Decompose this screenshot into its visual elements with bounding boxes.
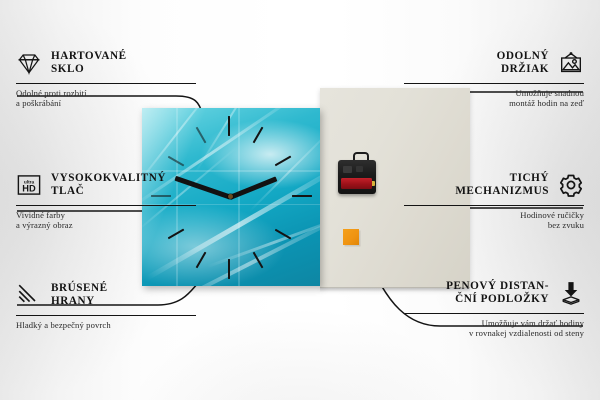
feature-desc: Odolné proti rozbití a poškrábání bbox=[16, 88, 196, 109]
feature-header: BRÚSENÉ HRANY bbox=[16, 278, 196, 312]
glass-reflection-line bbox=[238, 108, 240, 286]
mechanism-detail-left bbox=[343, 166, 352, 173]
divider bbox=[16, 315, 196, 316]
divider bbox=[16, 83, 196, 84]
feature-title: ODOLNÝ DRŽIAK bbox=[497, 50, 549, 77]
hour-tick bbox=[253, 127, 264, 144]
feature-header: ultra HD VYSOKOKVALITNÝ TLAČ bbox=[16, 168, 196, 202]
ultra-hd-icon: ultra HD bbox=[16, 172, 42, 198]
clock-hub bbox=[228, 194, 233, 199]
gear-icon bbox=[558, 172, 584, 198]
divider bbox=[16, 205, 196, 206]
feature-silent-mechanism: TICHÝ MECHANIZMUS Hodinové ručičky bez z… bbox=[404, 168, 584, 231]
feature-foam-spacers: PENOVÝ DISTAN- ČNÍ PODLOŽKY Umožňuje vám… bbox=[404, 276, 584, 339]
feature-high-quality-print: ultra HD VYSOKOKVALITNÝ TLAČ Vividné far… bbox=[16, 168, 196, 231]
feature-desc: Vividné farby a výrazný obraz bbox=[16, 210, 196, 231]
infographic-canvas: HARTOVANÉ SKLO Odolné proti rozbití a po… bbox=[0, 0, 600, 400]
hour-tick bbox=[292, 195, 312, 197]
diagonal-lines-icon bbox=[16, 282, 42, 308]
feature-durable-holder: ODOLNÝ DRŽIAK Umožňuje snadnou montáž ho… bbox=[404, 46, 584, 109]
feature-title: HARTOVANÉ SKLO bbox=[51, 50, 127, 77]
hanging-picture-icon bbox=[558, 50, 584, 76]
feather-streak bbox=[206, 211, 320, 269]
feature-title: TICHÝ MECHANIZMUS bbox=[455, 172, 549, 199]
hour-tick bbox=[228, 259, 230, 279]
feature-desc: Umožňuje vám držať hodiny v rovnakej vzd… bbox=[404, 318, 584, 339]
mechanism-detail-right bbox=[356, 166, 363, 172]
foam-spacer-pad bbox=[343, 229, 359, 245]
feature-tempered-glass: HARTOVANÉ SKLO Odolné proti rozbití a po… bbox=[16, 46, 196, 109]
feature-desc: Umožňuje snadnou montáž hodin na zeď bbox=[404, 88, 584, 109]
diamond-icon bbox=[16, 50, 42, 76]
feature-header: HARTOVANÉ SKLO bbox=[16, 46, 196, 80]
svg-text:HD: HD bbox=[22, 184, 36, 194]
feature-desc: Hladký a bezpečný povrch bbox=[16, 320, 196, 331]
divider bbox=[404, 83, 584, 84]
feature-header: ODOLNÝ DRŽIAK bbox=[404, 46, 584, 80]
hour-tick bbox=[196, 252, 207, 269]
hour-tick bbox=[196, 127, 207, 144]
divider bbox=[404, 205, 584, 206]
battery bbox=[341, 178, 372, 189]
foam-spacer-icon bbox=[558, 280, 584, 306]
feature-ground-edges: BRÚSENÉ HRANY Hladký a bezpečný povrch bbox=[16, 278, 196, 330]
feature-title: PENOVÝ DISTAN- ČNÍ PODLOŽKY bbox=[446, 280, 549, 307]
feature-title: BRÚSENÉ HRANY bbox=[51, 282, 108, 309]
feature-desc: Hodinové ručičky bez zvuku bbox=[404, 210, 584, 231]
feature-title: VYSOKOKVALITNÝ TLAČ bbox=[51, 172, 166, 199]
feature-header: PENOVÝ DISTAN- ČNÍ PODLOŽKY bbox=[404, 276, 584, 310]
hour-tick bbox=[275, 156, 292, 167]
hour-tick bbox=[228, 116, 230, 136]
divider bbox=[404, 313, 584, 314]
feature-header: TICHÝ MECHANIZMUS bbox=[404, 168, 584, 202]
